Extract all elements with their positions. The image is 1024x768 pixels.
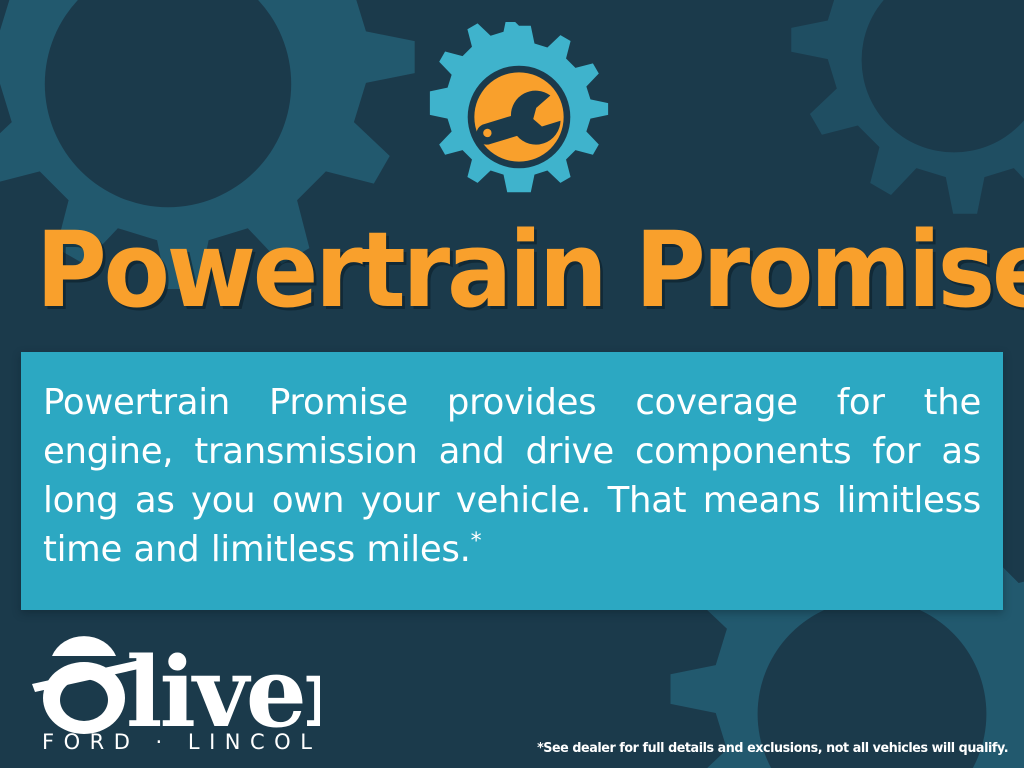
gear-wrench-icon	[424, 22, 614, 212]
powertrain-promise-poster: Powertrain Promise Powertrain Promise pr…	[0, 0, 1024, 768]
page-title: Powertrain Promise	[36, 218, 988, 322]
svg-text:FORD · LINCOLN: FORD · LINCOLN	[42, 730, 320, 754]
coverage-description-panel: Powertrain Promise provides coverage for…	[21, 352, 1003, 610]
oliver-ford-lincoln-logo: liver FORD · LINCOLN	[28, 636, 320, 754]
asterisk-marker: *	[471, 529, 482, 554]
disclaimer-text: *See dealer for full details and exclusi…	[537, 740, 1008, 756]
coverage-description-text: Powertrain Promise provides coverage for…	[43, 378, 981, 574]
coverage-body: Powertrain Promise provides coverage for…	[43, 382, 981, 570]
